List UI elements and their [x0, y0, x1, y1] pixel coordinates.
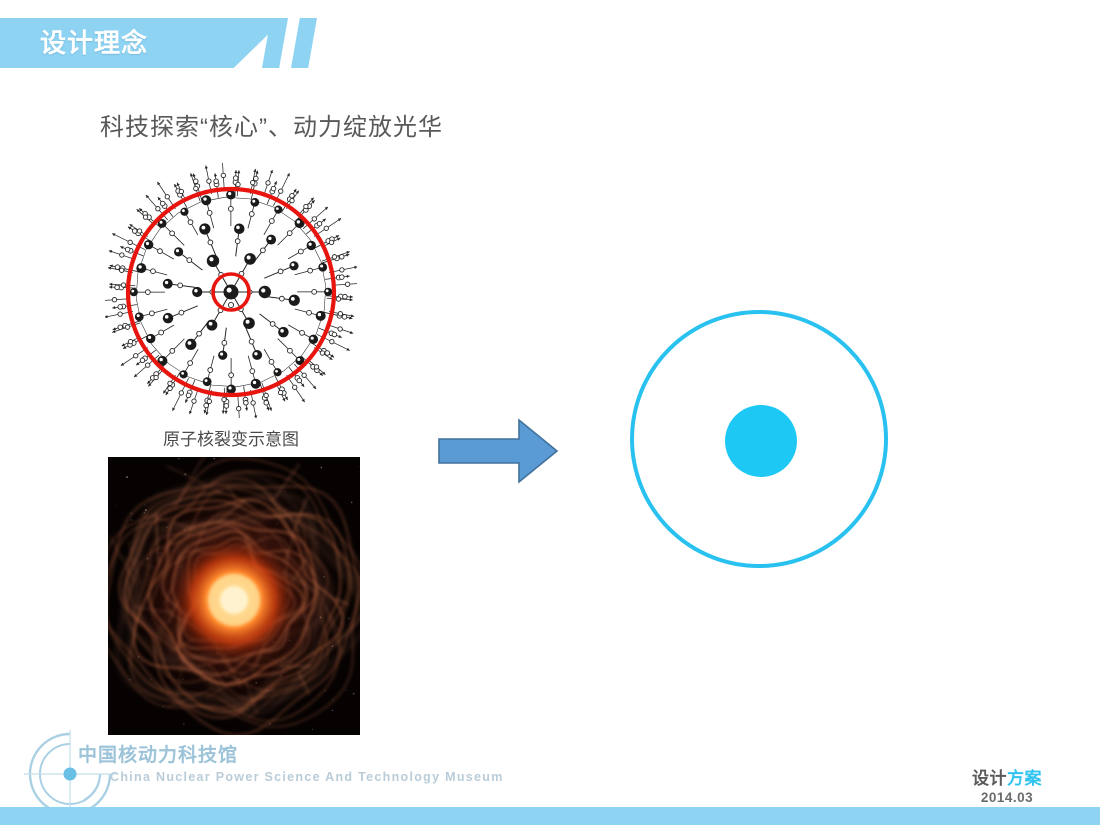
slide-canvas: 设计理念 科技探索“核心”、动力绽放光华 原子核裂变示意图: [0, 0, 1100, 825]
footer-date: 2014.03: [972, 790, 1042, 805]
concept-inner-core: [725, 405, 797, 477]
atomic-fission-diagram: [105, 163, 357, 418]
footer-org-name-en: China Nuclear Power Science And Technolo…: [110, 770, 504, 784]
section-subtitle: 科技探索“核心”、动力绽放光华: [100, 107, 443, 142]
header-banner: 设计理念: [0, 18, 340, 68]
page-title: 设计理念: [40, 18, 148, 68]
footer-org-name-cn: 中国核动力科技馆: [78, 740, 238, 767]
footer-doc-label-dark: 设计: [972, 769, 1007, 788]
glowing-star-nebula-image: [108, 457, 360, 735]
bottom-accent-bar: [0, 807, 1100, 825]
footer-doc-label-cyan: 方案: [1007, 769, 1042, 788]
concept-logo-circle: [630, 310, 896, 576]
footer-doc-label: 设计方案: [972, 764, 1042, 789]
footer-doc-info: 设计方案 2014.03: [972, 764, 1042, 805]
fission-diagram-caption: 原子核裂变示意图: [105, 425, 357, 450]
transformation-arrow: [437, 416, 559, 486]
banner-slash-icon-2: [291, 18, 317, 68]
